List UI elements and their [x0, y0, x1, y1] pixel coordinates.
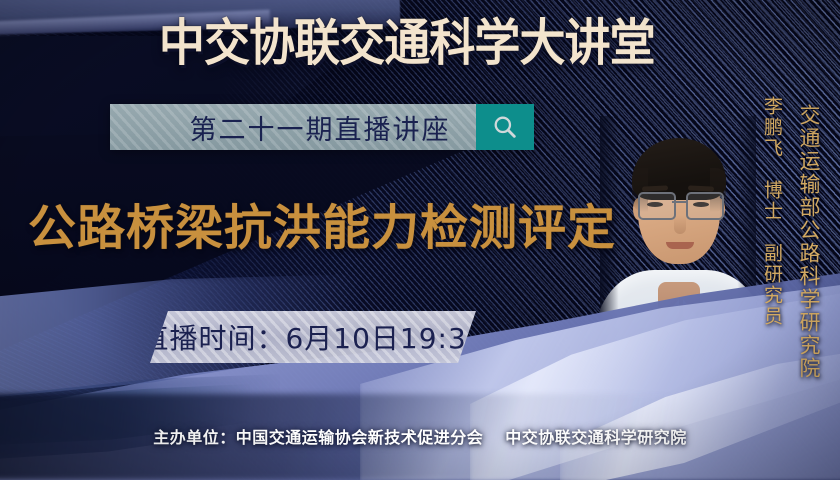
episode-bar-body: 第二十一期直播讲座	[110, 104, 476, 150]
poster-title: 中交协联交通科学大讲堂	[140, 18, 674, 68]
lecture-headline: 公路桥梁抗洪能力检测评定	[28, 202, 616, 255]
portrait-glasses	[636, 192, 722, 218]
portrait-lens-left	[638, 192, 676, 220]
broadcast-time-badge: 直播时间：6月10日19:30	[150, 311, 476, 363]
speaker-name-title: 李鹏飞 博士 副研究员	[759, 96, 786, 327]
footer-organizer-2: 中交协联交通科学研究院	[505, 428, 687, 447]
search-icon	[492, 114, 518, 140]
portrait-glasses-bridge	[672, 201, 686, 203]
episode-label: 第二十一期直播讲座	[136, 108, 451, 147]
footer-prefix: 主办单位：	[153, 428, 236, 447]
portrait-mouth	[666, 242, 694, 249]
portrait-lens-right	[686, 192, 724, 220]
portrait-shirt-button-upper	[679, 356, 685, 362]
poster-canvas: 中交协联交通科学大讲堂 第二十一期直播讲座 公路桥梁抗洪能力检测评定 直播时间：…	[0, 0, 840, 480]
footer-organizer-1: 中国交通运输协会新技术促进分会	[236, 428, 484, 447]
episode-bar: 第二十一期直播讲座	[110, 104, 534, 150]
search-button[interactable]	[476, 104, 534, 150]
portrait-nose	[674, 216, 686, 234]
footer-organizers: 主办单位：中国交通运输协会新技术促进分会中交协联交通科学研究院	[0, 424, 840, 448]
speaker-portrait	[600, 116, 756, 420]
portrait-shirt-button-lower	[679, 392, 685, 398]
broadcast-time-text: 直播时间：6月10日19:30	[140, 317, 485, 357]
speaker-organization: 交通运输部公路科学研究院	[794, 104, 824, 380]
